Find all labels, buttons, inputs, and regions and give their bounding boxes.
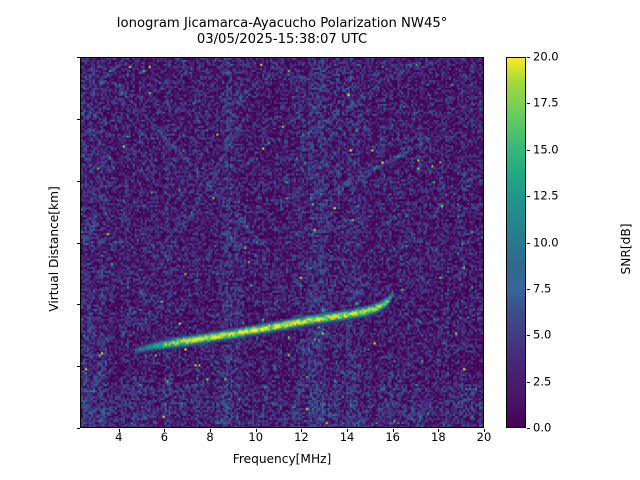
colorbar-tick-mark: [527, 103, 531, 104]
x-tick-label: 4: [115, 432, 122, 444]
colorbar-tick-label: 12.5: [533, 190, 559, 202]
x-tick-label: 16: [385, 432, 400, 444]
page-title: Ionogram Jicamarca-Ayacucho Polarization…: [80, 16, 484, 48]
colorbar[interactable]: [506, 57, 526, 428]
y-tick-mark: [77, 304, 81, 305]
y-tick-mark: [77, 181, 81, 182]
x-axis-label: Frequency[MHz]: [80, 452, 484, 466]
x-tick-label: 12: [294, 432, 309, 444]
colorbar-tick-label: 15.0: [533, 144, 559, 156]
x-tick-mark: [119, 429, 120, 433]
x-tick-mark: [347, 429, 348, 433]
colorbar-tick-label: 7.5: [533, 283, 551, 295]
colorbar-tick-label: 10.0: [533, 237, 559, 249]
colorbar-tick-mark: [527, 196, 531, 197]
colorbar-tick-label: 0.0: [533, 422, 551, 434]
colorbar-tick-mark: [527, 289, 531, 290]
colorbar-tick-mark: [527, 428, 531, 429]
colorbar-tick-mark: [527, 382, 531, 383]
colorbar-tick-label: 5.0: [533, 330, 551, 342]
colorbar-tick-mark: [527, 335, 531, 336]
x-tick-mark: [164, 429, 165, 433]
colorbar-tick-mark: [527, 57, 531, 58]
y-tick-mark: [77, 428, 81, 429]
ionogram-plot-area[interactable]: [80, 57, 484, 428]
x-tick-mark: [484, 429, 485, 433]
x-tick-label: 18: [431, 432, 446, 444]
x-tick-label: 14: [340, 432, 355, 444]
colorbar-tick-label: 2.5: [533, 376, 551, 388]
colorbar-tick-mark: [527, 243, 531, 244]
x-tick-label: 8: [206, 432, 213, 444]
ionogram-figure: Ionogram Jicamarca-Ayacucho Polarization…: [0, 0, 640, 480]
x-tick-mark: [438, 429, 439, 433]
x-tick-mark: [210, 429, 211, 433]
x-tick-label: 20: [477, 432, 492, 444]
x-tick-label: 6: [161, 432, 168, 444]
colorbar-tick-mark: [527, 150, 531, 151]
x-tick-label: 10: [248, 432, 263, 444]
x-tick-mark: [393, 429, 394, 433]
colorbar-tick-label: 20.0: [533, 51, 559, 63]
y-tick-mark: [77, 366, 81, 367]
colorbar-tick-label: 17.5: [533, 98, 559, 110]
y-tick-mark: [77, 119, 81, 120]
x-tick-mark: [301, 429, 302, 433]
x-tick-mark: [256, 429, 257, 433]
ionogram-echo-trace: [81, 58, 483, 427]
y-tick-mark: [77, 243, 81, 244]
y-axis-label: Virtual Distance[km]: [47, 119, 61, 379]
colorbar-label: SNR[dB]: [619, 119, 633, 379]
y-tick-mark: [77, 57, 81, 58]
